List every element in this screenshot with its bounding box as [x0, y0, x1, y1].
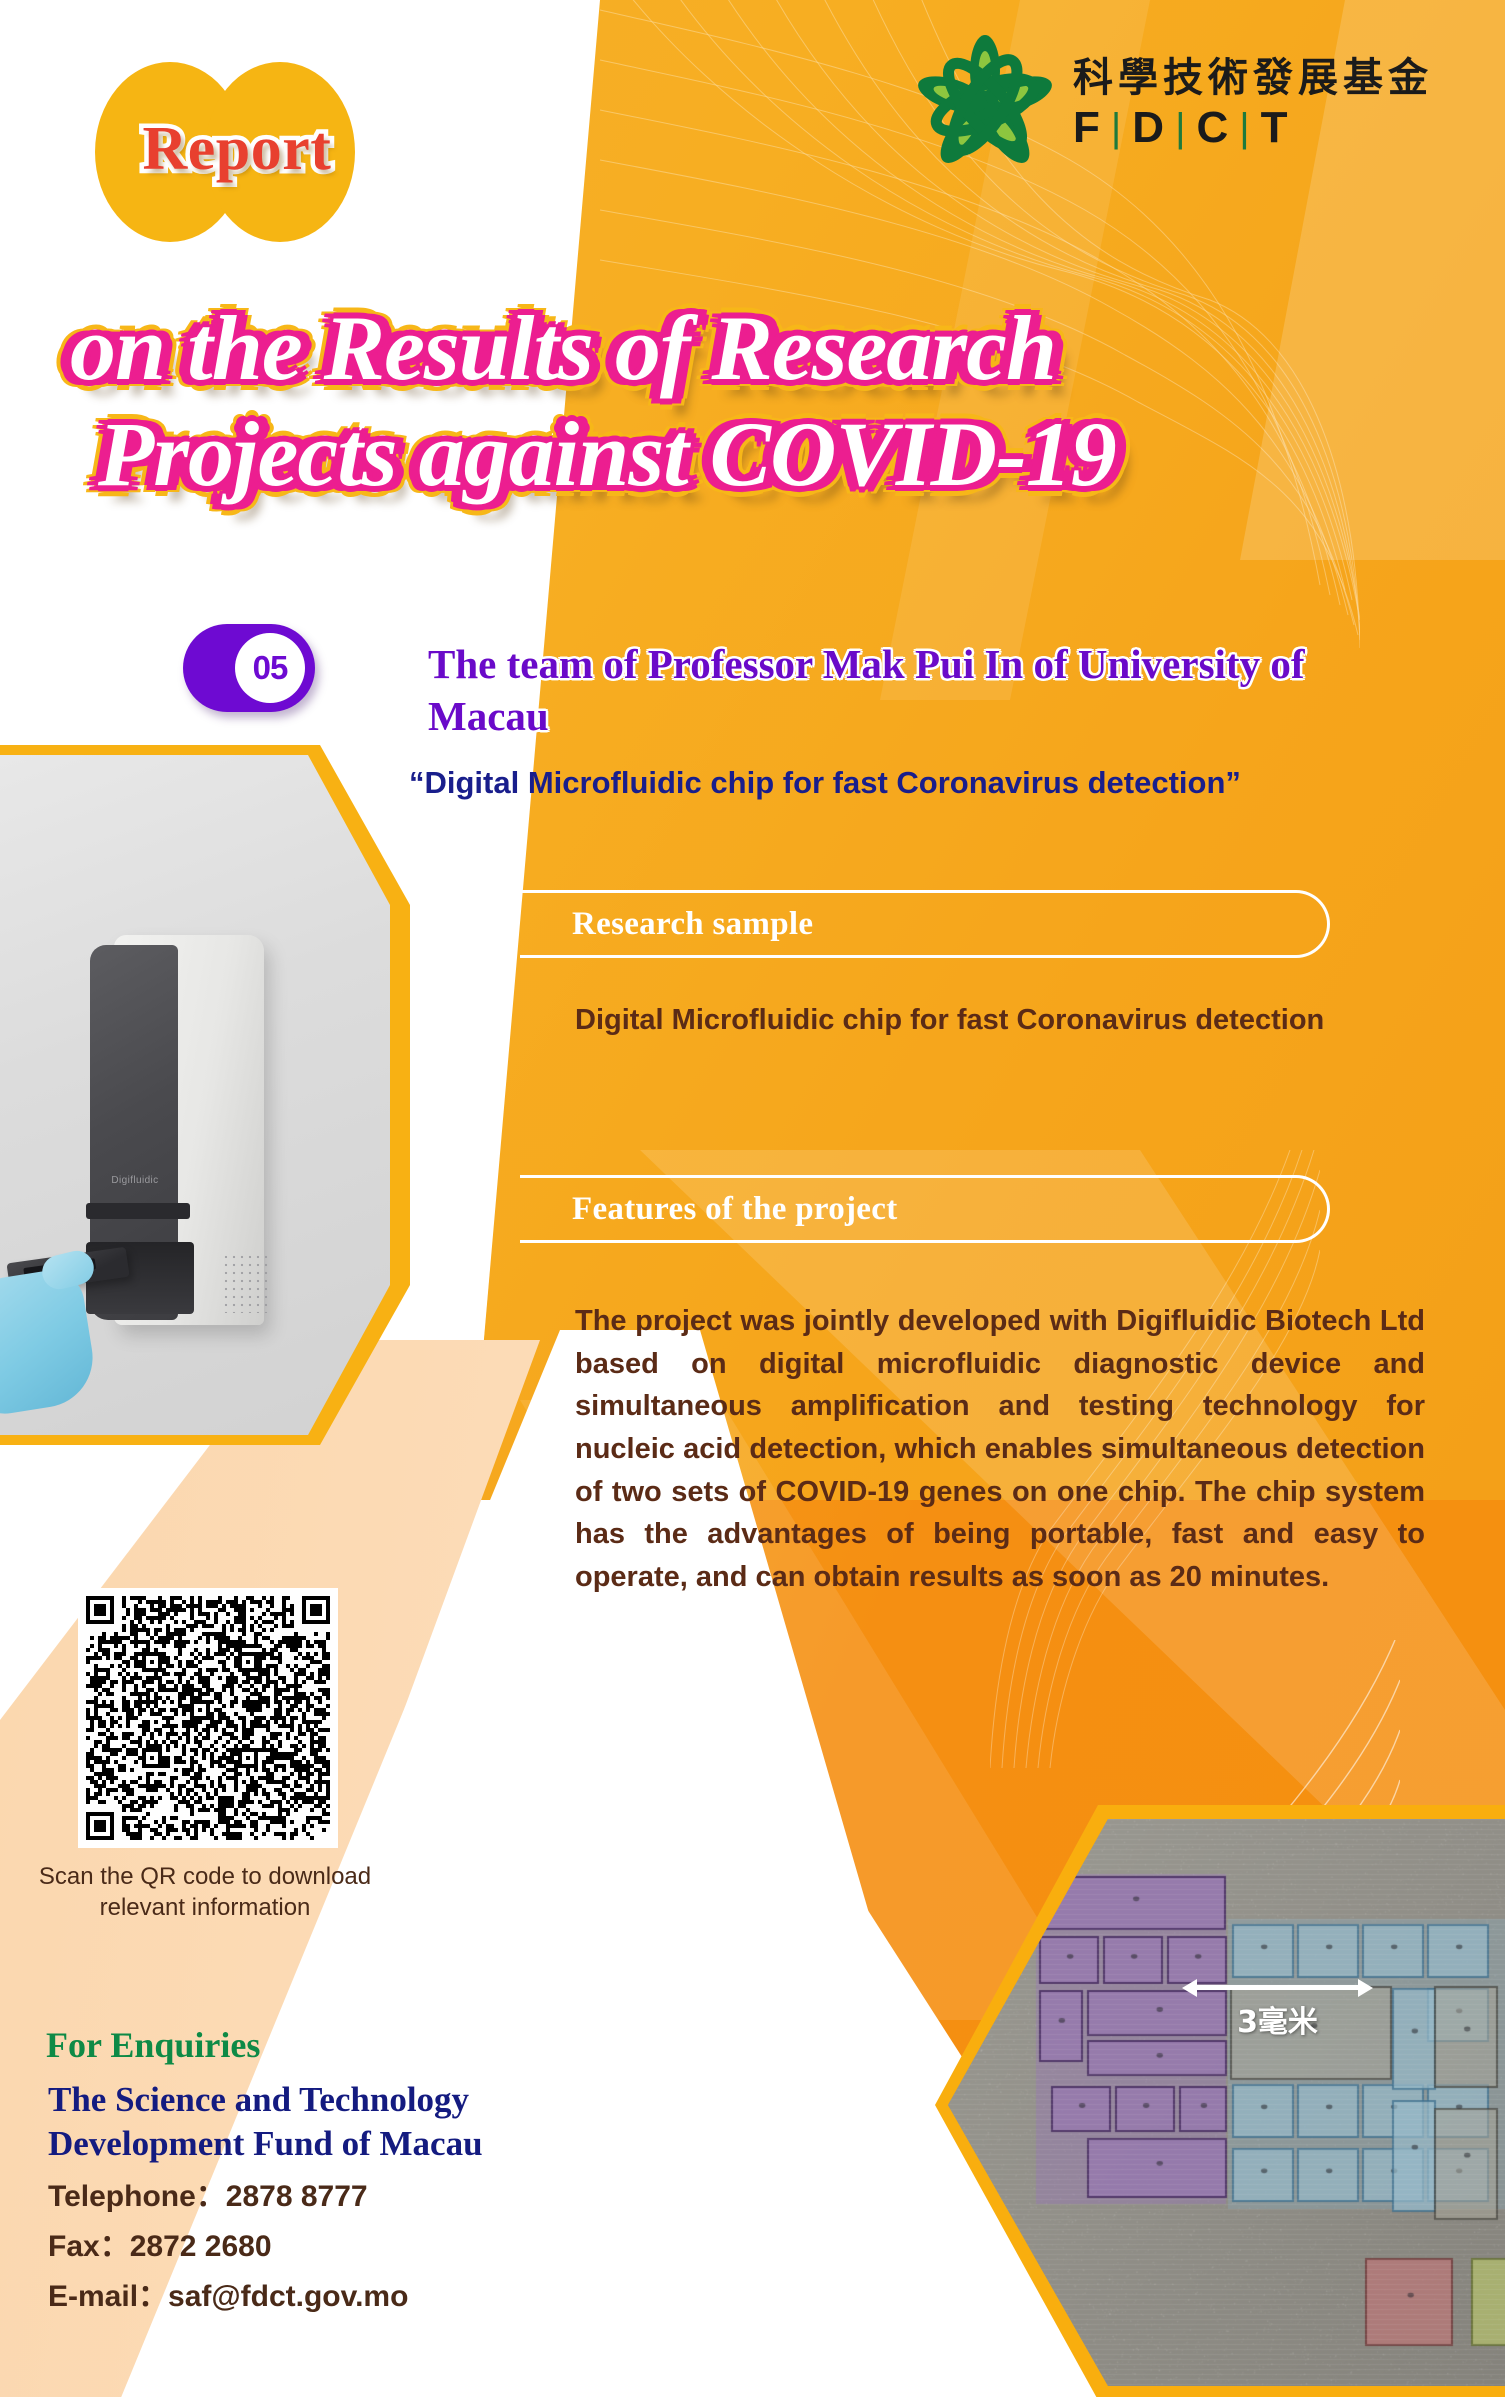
fdct-chinese-name: 科學技術發展基金 — [1073, 57, 1433, 99]
contact-email[interactable]: E-mail：saf@fdct.gov.mo — [48, 2272, 648, 2322]
project-title-quote: “Digital Microfluidic chip for fast Coro… — [425, 762, 1305, 805]
poster-canvas: Report — [0, 0, 1505, 2397]
section-body-features: The project was jointly developed with D… — [575, 1300, 1425, 1598]
chip-photo — [948, 1819, 1505, 2386]
fdct-logo: 科學技術發展基金 F | D | C | T — [915, 35, 1475, 175]
team-heading: The team of Professor Mak Pui In of Univ… — [428, 638, 1328, 743]
main-title-line-1-row: on the Results of Research — [70, 300, 1470, 398]
main-title-line-1: on the Results of Research — [70, 300, 1056, 398]
enquiries-organisation: The Science and Technology Development F… — [48, 2078, 608, 2166]
section-pill-features: Features of the project — [520, 1175, 1330, 1243]
report-badge: Report — [95, 62, 375, 242]
fdct-letter-t: T — [1261, 103, 1290, 153]
device-photo-frame: Digifluidic — [0, 745, 410, 1445]
fdct-letter-c: C — [1196, 103, 1230, 153]
enquiries-title: For Enquiries — [46, 2024, 260, 2066]
main-title-line-2: Projects against COVID-19 — [98, 406, 1116, 504]
device-brand-label: Digifluidic — [94, 1175, 176, 1186]
chip-photo-frame: 3毫米 — [935, 1805, 1505, 2397]
fdct-letter-d: D — [1132, 103, 1166, 153]
chip-photo-image — [948, 1819, 1505, 2386]
section-pill-features-label: Features of the project — [572, 1191, 898, 1228]
chip-scale-arrow-left-icon — [1182, 1979, 1197, 1997]
chip-scale-label: 3毫米 — [1190, 1997, 1365, 2041]
section-body-research-sample: Digital Microfluidic chip for fast Coron… — [575, 1000, 1425, 1041]
section-pill-research-sample-label: Research sample — [572, 906, 813, 943]
contact-fax: Fax：2872 2680 — [48, 2222, 648, 2272]
contact-telephone: Telephone：2878 8777 — [48, 2172, 648, 2222]
project-number-badge: 05 — [183, 624, 315, 712]
section-pill-research-sample: Research sample — [520, 890, 1330, 958]
qr-code-caption: Scan the QR code to download relevant in… — [30, 1862, 380, 1923]
device-vent-grille — [222, 1253, 270, 1313]
fdct-separator-1: | — [1111, 106, 1123, 151]
report-badge-label: Report — [77, 114, 397, 185]
project-number-label: 05 — [253, 649, 288, 687]
chip-scale-bar: 3毫米 — [1190, 1973, 1365, 2033]
chip-scale-arrow-right-icon — [1358, 1979, 1373, 1997]
project-number-disc: 05 — [235, 633, 305, 703]
chip-scale-line — [1190, 1985, 1365, 1990]
fdct-separator-2: | — [1175, 106, 1187, 151]
fdct-letter-f: F — [1073, 103, 1102, 153]
device-photo: Digifluidic — [0, 755, 390, 1435]
enquiries-contact-list: Telephone：2878 8777 Fax：2872 2680 E-mail… — [48, 2172, 648, 2322]
poster-main-title: on the Results of Research Projects agai… — [70, 300, 1470, 503]
device-tray-slot-upper — [86, 1203, 190, 1219]
main-title-line-2-row: Projects against COVID-19 — [98, 406, 1470, 504]
qr-code-image — [86, 1596, 330, 1840]
fdct-acronym: F | D | C | T — [1073, 103, 1433, 153]
gloved-hand — [0, 1266, 100, 1420]
fdct-separator-3: | — [1239, 106, 1251, 151]
qr-code[interactable] — [78, 1588, 338, 1848]
fdct-logo-text: 科學技術發展基金 F | D | C | T — [1073, 57, 1433, 153]
fdct-flower-logo-icon — [915, 35, 1055, 175]
